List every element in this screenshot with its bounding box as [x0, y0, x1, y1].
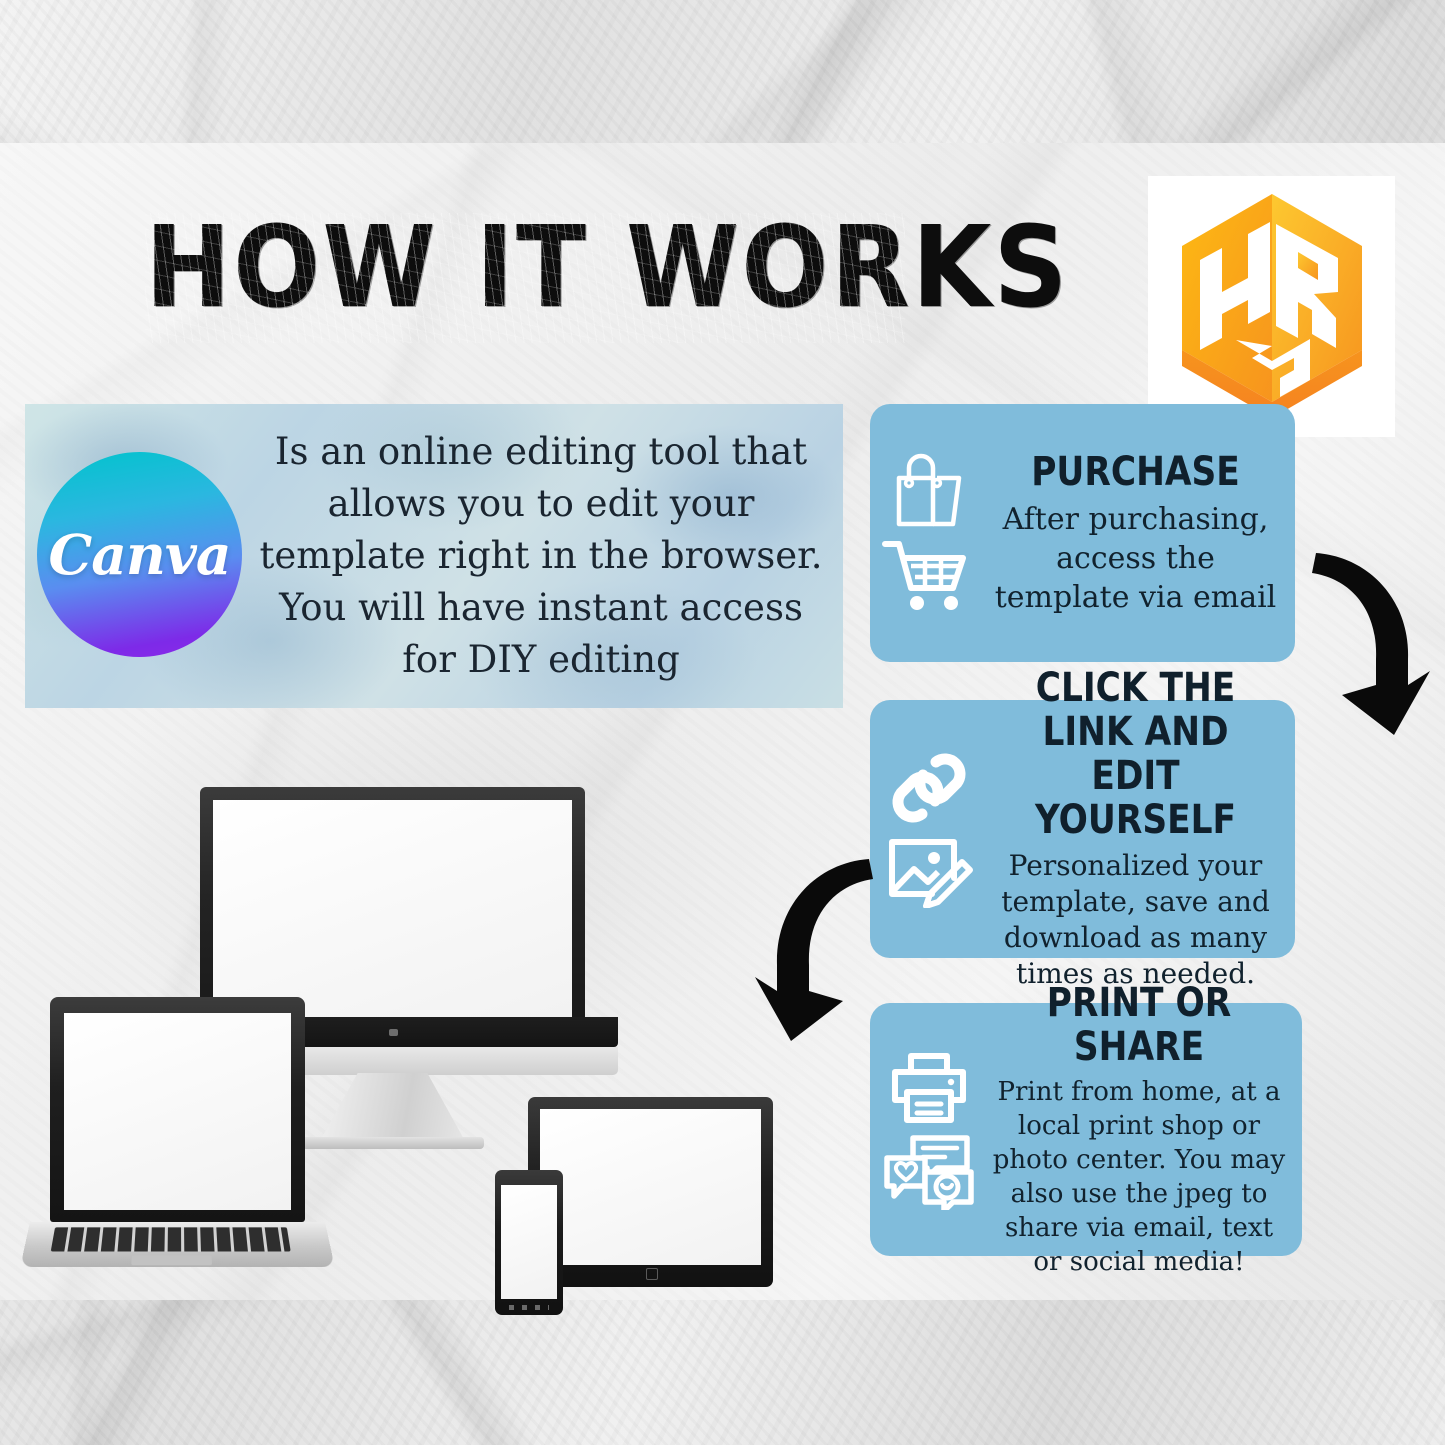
print-share-icons	[870, 1050, 988, 1210]
print-share-description: Print from home, at a local print shop o…	[988, 1075, 1290, 1279]
monitor-stand	[320, 1073, 465, 1141]
step-card-purchase[interactable]: PURCHASE After purchasing, access the te…	[870, 404, 1295, 662]
phone-screen	[501, 1185, 557, 1299]
print-share-title: PRINT OR SHARE	[1009, 981, 1269, 1069]
canva-description-line: template right in the browser.	[251, 530, 831, 582]
tablet-device	[528, 1097, 773, 1287]
shopping-bag-icon	[887, 452, 971, 530]
canva-description: Is an online editing tool that allows yo…	[251, 414, 831, 698]
print-share-body: PRINT OR SHARE Print from home, at a loc…	[988, 981, 1302, 1279]
purchase-description: After purchasing, access the template vi…	[988, 500, 1283, 617]
logo-cube-icon	[1170, 188, 1375, 426]
purchase-body: PURCHASE After purchasing, access the te…	[988, 450, 1295, 617]
step-card-click-edit[interactable]: CLICK THE LINK AND EDIT YOURSELF Persona…	[870, 700, 1295, 958]
canva-description-line: allows you to edit your	[251, 478, 831, 530]
canva-logo-text: Canva	[49, 522, 231, 587]
curved-arrow-down-right-icon	[752, 845, 887, 1060]
canva-description-line: Is an online editing tool that	[251, 426, 831, 478]
canva-description-line: You will have instant access	[251, 582, 831, 634]
click-edit-title: CLICK THE LINK AND EDIT YOURSELF	[1009, 666, 1263, 842]
monitor-foot	[302, 1137, 484, 1149]
monitor-screen	[213, 800, 572, 1017]
laptop-keyboard	[51, 1227, 291, 1251]
click-edit-icons	[870, 750, 988, 908]
link-chain-icon	[886, 750, 972, 826]
canva-logo-badge: Canva	[37, 452, 242, 657]
laptop-display	[64, 1013, 291, 1210]
purchase-icons	[870, 452, 988, 614]
devices-mockup-image	[30, 775, 770, 1170]
curved-arrow-down-left-icon	[1298, 535, 1438, 750]
chat-bubbles-icon	[883, 1132, 975, 1210]
page-title: HOW IT WORKS	[145, 203, 923, 333]
purchase-title: PURCHASE	[1009, 450, 1263, 494]
laptop-base	[20, 1222, 335, 1267]
laptop-screen	[50, 997, 305, 1222]
image-edit-pencil-icon	[884, 832, 974, 908]
click-edit-description: Personalized your template, save and dow…	[988, 848, 1283, 992]
desktop-monitor	[200, 787, 585, 1017]
click-edit-body: CLICK THE LINK AND EDIT YOURSELF Persona…	[988, 666, 1295, 992]
canva-description-line: for DIY editing	[251, 634, 831, 686]
tablet-screen	[540, 1109, 761, 1265]
hrg-cube-logo	[1148, 176, 1395, 437]
step-card-print-share[interactable]: PRINT OR SHARE Print from home, at a loc…	[870, 1003, 1302, 1256]
laptop-trackpad	[131, 1255, 212, 1265]
canva-info-panel: Canva Is an online editing tool that all…	[25, 404, 843, 708]
shopping-cart-icon	[881, 536, 977, 614]
printer-icon	[887, 1050, 971, 1126]
smartphone-device	[495, 1170, 563, 1315]
